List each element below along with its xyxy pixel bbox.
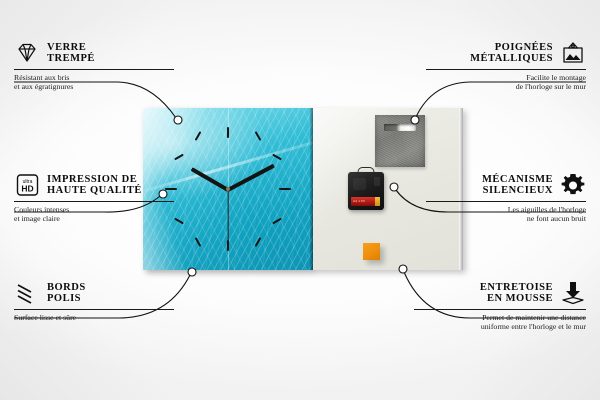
feature-description: Les aiguilles de l'horloge ne font aucun…	[426, 205, 586, 224]
feature-title: BORDS POLIS	[47, 282, 86, 305]
feature-desc-line1: Facilite le montage	[526, 73, 586, 82]
feature-description: Surface lisse et sûre	[14, 313, 174, 322]
hanger-slot	[384, 124, 416, 131]
clock-hand-second	[227, 190, 228, 246]
feature-header: MÉCANISME SILENCIEUX	[426, 172, 586, 198]
feature-title: POIGNÉES MÉTALLIQUES	[470, 42, 553, 65]
feature-header: BORDS POLIS	[14, 280, 174, 306]
feature-desc-line2: et image claire	[14, 214, 60, 223]
feature-desc-line2: de l'horloge sur le mur	[516, 82, 586, 91]
clock-mechanism: AA 1.5V	[348, 172, 384, 210]
foam-spacer	[363, 243, 380, 260]
feature-title-line1: BORDS	[47, 282, 86, 293]
hanger-plate	[375, 115, 425, 167]
feature-description: Résistant aux bris et aux égratignures	[14, 73, 174, 92]
ultra-hd-badge-icon: ultra HD	[14, 172, 40, 198]
gear-icon	[560, 172, 586, 198]
feature-title-line2: EN MOUSSE	[487, 293, 553, 304]
feature-title: IMPRESSION DE HAUTE QUALITÉ	[47, 174, 142, 197]
foam-spacer-icon	[560, 280, 586, 306]
feature-header: ENTRETOISE EN MOUSSE	[414, 280, 586, 306]
feature-title-line1: ENTRETOISE	[480, 282, 553, 293]
wall-hanger-icon	[560, 40, 586, 66]
battery-positive-tip	[375, 197, 380, 206]
clock-marker	[227, 127, 229, 138]
feature-divider	[14, 69, 174, 70]
feature-desc-line1: Permet de maintenir une distance	[482, 313, 586, 322]
feature-divider	[14, 201, 174, 202]
feature-title-line2: TREMPÉ	[47, 53, 95, 64]
feature-desc-line1: Résistant aux bris	[14, 73, 69, 82]
diamond-icon	[14, 40, 40, 66]
feature-divider	[414, 309, 586, 310]
feature-divider	[426, 69, 586, 70]
feature-title-line1: POIGNÉES	[495, 42, 553, 53]
feature-impression-hd: ultra HD IMPRESSION DE HAUTE QUALITÉ Cou…	[14, 172, 174, 224]
product-assembly: AA 1.5V	[143, 108, 463, 270]
feature-desc-line1: Les aiguilles de l'horloge	[508, 205, 586, 214]
feature-poignees-metalliques: POIGNÉES MÉTALLIQUES Facilite le montage…	[426, 40, 586, 92]
feature-desc-line1: Couleurs intenses	[14, 205, 69, 214]
feature-title: ENTRETOISE EN MOUSSE	[480, 282, 553, 305]
mechanism-detail	[353, 178, 366, 190]
feature-title-line1: IMPRESSION DE	[47, 174, 137, 185]
feature-title-line2: SILENCIEUX	[483, 185, 553, 196]
feature-description: Couleurs intenses et image claire	[14, 205, 174, 224]
clock-marker	[279, 188, 291, 190]
mechanism-body: AA 1.5V	[348, 172, 384, 210]
feature-entretoise-mousse: ENTRETOISE EN MOUSSE Permet de maintenir…	[414, 280, 586, 332]
feature-title-line2: HAUTE QUALITÉ	[47, 185, 142, 196]
feature-divider	[426, 201, 586, 202]
feature-title: MÉCANISME SILENCIEUX	[482, 174, 553, 197]
mechanism-detail	[374, 177, 380, 186]
battery: AA 1.5V	[351, 197, 380, 206]
feature-header: ultra HD IMPRESSION DE HAUTE QUALITÉ	[14, 172, 174, 198]
feature-desc-line2: uniforme entre l'horloge et le mur	[481, 322, 586, 331]
feature-title-line1: VERRE	[47, 42, 86, 53]
svg-text:HD: HD	[21, 184, 33, 194]
feature-header: POIGNÉES MÉTALLIQUES	[426, 40, 586, 66]
feature-divider	[14, 309, 174, 310]
feature-header: VERRE TREMPÉ	[14, 40, 174, 66]
feature-desc-line2: et aux égratignures	[14, 82, 73, 91]
feature-desc-line2: ne font aucun bruit	[527, 214, 586, 223]
feature-mecanisme-silencieux: MÉCANISME SILENCIEUX Les aiguilles de l'…	[426, 172, 586, 224]
infographic-page: AA 1.5V	[0, 0, 600, 400]
feature-bords-polis: BORDS POLIS Surface lisse et sûre	[14, 280, 174, 322]
feature-verre-trempe: VERRE TREMPÉ Résistant aux bris et aux é…	[14, 40, 174, 92]
battery-label: AA 1.5V	[353, 199, 365, 203]
feature-description: Facilite le montage de l'horloge sur le …	[426, 73, 586, 92]
feature-title-line2: POLIS	[47, 293, 81, 304]
feature-title: VERRE TREMPÉ	[47, 42, 95, 65]
feature-description: Permet de maintenir une distance uniform…	[414, 313, 586, 332]
feature-title-line1: MÉCANISME	[482, 174, 553, 185]
clock-center-pin	[226, 187, 230, 191]
polished-edges-icon	[14, 280, 40, 306]
feature-desc-line1: Surface lisse et sûre	[14, 313, 76, 322]
feature-title-line2: MÉTALLIQUES	[470, 53, 553, 64]
